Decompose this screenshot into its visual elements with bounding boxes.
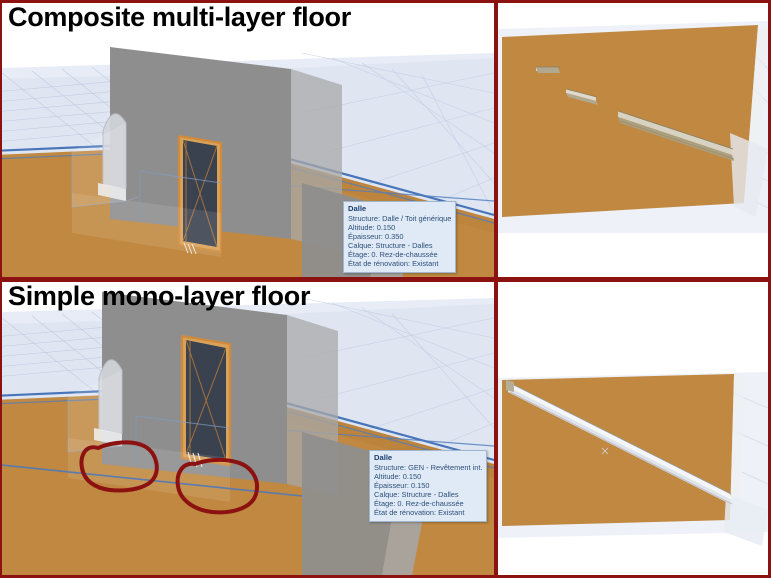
- tooltip-row-altitude: Altitude: 0.150: [348, 223, 451, 232]
- floor-slot-1: [536, 67, 560, 73]
- scene-floor-underside-mono: [498, 282, 768, 575]
- panel-title-top-left: Composite multi-layer floor: [8, 2, 351, 33]
- scene-floor-underside-composite: [498, 3, 768, 277]
- tooltip-row-altitude: Altitude: 0.150: [374, 472, 482, 481]
- tooltip-row-renovation: État de rénovation: Existant: [374, 508, 482, 517]
- tooltip-row-layer: Calque: Structure - Dalles: [348, 241, 451, 250]
- panel-bottom-left-viewport: Dalle Structure: GEN - Revêtement int. A…: [2, 282, 494, 575]
- tooltip-row-structure: Structure: GEN - Revêtement int.: [374, 463, 482, 472]
- tooltip-title: Dalle: [374, 453, 482, 463]
- panel-top-left-viewport: Dalle Structure: Dalle / Toit générique …: [2, 33, 494, 277]
- tooltip-row-layer: Calque: Structure - Dalles: [374, 490, 482, 499]
- figure-root: Dalle Structure: Dalle / Toit générique …: [0, 0, 771, 578]
- scene-mono-layer-floor: [2, 282, 494, 575]
- tooltip-row-storey: Étage: 0. Rez-de-chaussée: [374, 499, 482, 508]
- tooltip-row-storey: Étage: 0. Rez-de-chaussée: [348, 250, 451, 259]
- panel-top-right-viewport: [498, 3, 768, 277]
- door-opening: [182, 336, 230, 465]
- element-info-tooltip: Dalle Structure: GEN - Revêtement int. A…: [369, 450, 487, 522]
- tooltip-row-renovation: État de rénovation: Existant: [348, 259, 451, 268]
- tooltip-row-thickness: Épaisseur: 0.150: [374, 481, 482, 490]
- tooltip-row-structure: Structure: Dalle / Toit générique: [348, 214, 451, 223]
- tooltip-title: Dalle: [348, 204, 451, 214]
- panel-bottom-right-viewport: [498, 282, 768, 575]
- element-info-tooltip: Dalle Structure: Dalle / Toit générique …: [343, 201, 456, 273]
- divider-vertical: [494, 0, 498, 578]
- tooltip-row-thickness: Épaisseur: 0.350: [348, 232, 451, 241]
- panel-title-bottom-left: Simple mono-layer floor: [8, 281, 310, 312]
